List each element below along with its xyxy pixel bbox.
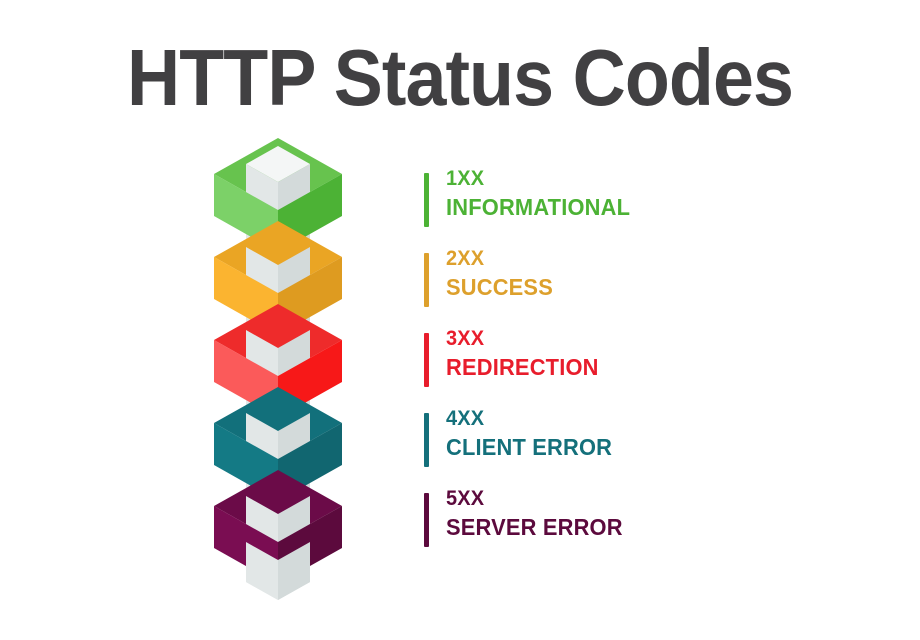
legend-name-3xx: REDIRECTION	[446, 352, 599, 382]
legend-color-bar-5xx	[424, 493, 429, 547]
legend-code-1xx: 1XX	[446, 165, 630, 192]
legend-name-5xx: SERVER ERROR	[446, 512, 623, 542]
legend-item-2xx[interactable]: 2XX SUCCESS	[424, 245, 844, 325]
legend-item-1xx[interactable]: 1XX INFORMATIONAL	[424, 165, 844, 245]
legend-label-group-4xx: 4XX CLIENT ERROR	[446, 405, 621, 462]
legend-name-4xx: CLIENT ERROR	[446, 432, 612, 462]
legend-item-5xx[interactable]: 5XX SERVER ERROR	[424, 485, 844, 565]
legend-label-group-2xx: 2XX SUCCESS	[446, 245, 559, 302]
http-status-codes-infographic: HTTP Status Codes	[0, 0, 920, 640]
legend-color-bar-4xx	[424, 413, 429, 467]
isometric-blocks-tower-graphic	[200, 130, 400, 620]
legend-color-bar-3xx	[424, 333, 429, 387]
legend-item-4xx[interactable]: 4XX CLIENT ERROR	[424, 405, 844, 485]
legend-label-group-1xx: 1XX INFORMATIONAL	[446, 165, 640, 222]
legend-label-group-5xx: 5XX SERVER ERROR	[446, 485, 632, 542]
legend-color-bar-1xx	[424, 173, 429, 227]
legend-code-4xx: 4XX	[446, 405, 612, 432]
tower-svg	[200, 130, 400, 620]
legend-label-group-3xx: 3XX REDIRECTION	[446, 325, 607, 382]
legend-code-2xx: 2XX	[446, 245, 553, 272]
page-title: HTTP Status Codes	[37, 34, 883, 122]
legend-name-1xx: INFORMATIONAL	[446, 192, 630, 222]
legend-color-bar-2xx	[424, 253, 429, 307]
legend-item-3xx[interactable]: 3XX REDIRECTION	[424, 325, 844, 405]
legend-code-5xx: 5XX	[446, 485, 623, 512]
status-code-legend: 1XX INFORMATIONAL 2XX SUCCESS 3XX REDIRE…	[424, 165, 844, 565]
legend-code-3xx: 3XX	[446, 325, 599, 352]
legend-name-2xx: SUCCESS	[446, 272, 553, 302]
